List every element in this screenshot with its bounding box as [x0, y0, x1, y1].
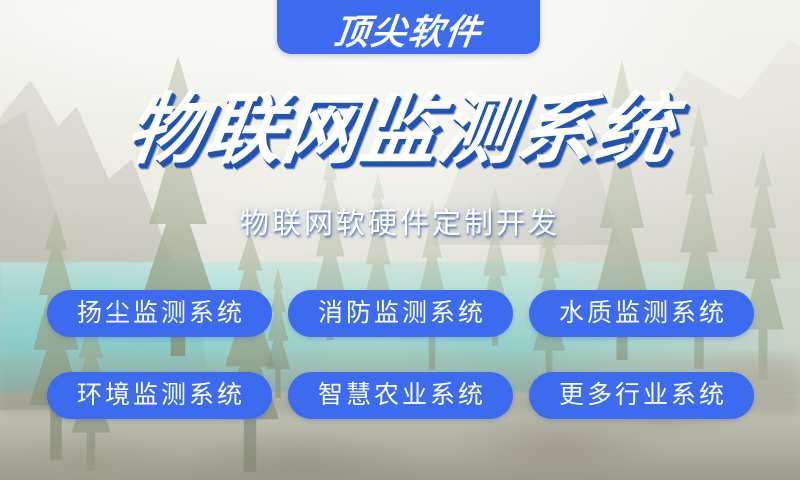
page-subtitle: 物联网软硬件定制开发 [0, 207, 800, 242]
pill-label: 智慧农业系统 [315, 383, 486, 408]
pill-more-industry-systems[interactable]: 更多行业系统 [529, 372, 754, 419]
promo-banner: 顶尖软件 物联网监测系统 物联网软硬件定制开发 扬尘监测系统 消防监测系统 水质… [0, 0, 800, 480]
page-title: 物联网监测系统 [0, 92, 800, 169]
pill-label: 水质监测系统 [556, 301, 727, 326]
pill-environment-monitoring[interactable]: 环境监测系统 [47, 372, 272, 419]
pill-label: 更多行业系统 [556, 383, 727, 408]
banner-content: 顶尖软件 物联网监测系统 物联网软硬件定制开发 扬尘监测系统 消防监测系统 水质… [0, 0, 800, 480]
pill-fire-monitoring[interactable]: 消防监测系统 [288, 290, 513, 337]
pill-label: 环境监测系统 [74, 383, 245, 408]
brand-badge-label: 顶尖软件 [332, 15, 484, 50]
pill-water-quality-monitoring[interactable]: 水质监测系统 [529, 290, 754, 337]
pill-dust-monitoring[interactable]: 扬尘监测系统 [47, 290, 272, 337]
service-pill-grid: 扬尘监测系统 消防监测系统 水质监测系统 环境监测系统 智慧农业系统 更多行业系… [47, 290, 753, 419]
pill-label: 扬尘监测系统 [74, 301, 245, 326]
pill-label: 消防监测系统 [315, 301, 486, 326]
pill-smart-agriculture[interactable]: 智慧农业系统 [288, 372, 513, 419]
brand-badge[interactable]: 顶尖软件 [277, 0, 540, 54]
